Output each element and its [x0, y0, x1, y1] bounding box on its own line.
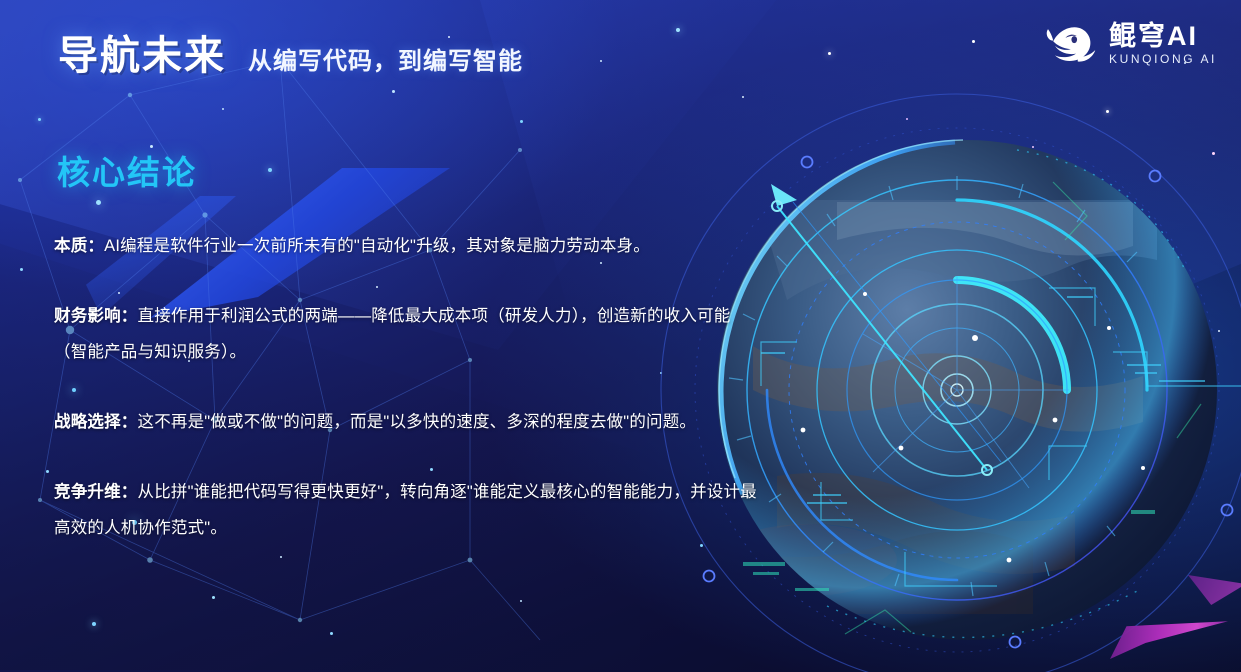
conclusion-label: 战略选择： — [54, 413, 138, 431]
conclusion-item: 财务影响：直接作用于利润公式的两端——降低最大成本项（研发人力），创造新的收入可… — [54, 298, 760, 370]
page-subtitle: 从编写代码，到编写智能 — [248, 50, 523, 74]
slide-header: 导航未来 从编写代码，到编写智能 — [58, 36, 523, 76]
conclusion-label: 本质： — [54, 237, 104, 255]
conclusion-item: 战略选择：这不再是"做或不做"的问题，而是"以多快的速度、多深的程度去做"的问题… — [54, 404, 760, 440]
brand-logo[interactable]: 鲲穹AI KUNQIONG AI — [1041, 18, 1217, 70]
section-heading: 核心结论 — [57, 153, 197, 193]
whale-logo-icon — [1041, 18, 1097, 70]
brand-logo-text: 鲲穹AI KUNQIONG AI — [1109, 23, 1217, 65]
brand-name-cn: 鲲穹AI — [1109, 23, 1217, 50]
conclusion-text: 从比拼"谁能把代码写得更快更好"，转向角逐"谁能定义最核心的智能能力，并设计最高… — [54, 483, 757, 537]
magenta-arrow-decoration-small — [1188, 575, 1241, 605]
slide-root: 导航未来 从编写代码，到编写智能 鲲穹AI KUNQIONG AI 核心结论 本… — [0, 0, 1241, 672]
conclusion-text: AI编程是软件行业一次前所未有的"自动化"升级，其对象是脑力劳动本身。 — [104, 237, 650, 255]
magenta-arrow-decoration — [1110, 617, 1228, 659]
conclusion-item: 竞争升维：从比拼"谁能把代码写得更快更好"，转向角逐"谁能定义最核心的智能能力，… — [54, 474, 760, 546]
conclusion-label: 财务影响： — [54, 307, 138, 325]
page-title: 导航未来 — [58, 36, 226, 76]
brand-name-en: KUNQIONG AI — [1109, 53, 1217, 65]
conclusion-text: 直接作用于利润公式的两端——降低最大成本项（研发人力），创造新的收入可能（智能产… — [54, 307, 730, 361]
conclusion-item: 本质：AI编程是软件行业一次前所未有的"自动化"升级，其对象是脑力劳动本身。 — [54, 228, 760, 264]
conclusions-list: 本质：AI编程是软件行业一次前所未有的"自动化"升级，其对象是脑力劳动本身。 财… — [54, 228, 760, 546]
conclusion-text: 这不再是"做或不做"的问题，而是"以多快的速度、多深的程度去做"的问题。 — [138, 413, 697, 431]
conclusion-label: 竞争升维： — [54, 483, 138, 501]
